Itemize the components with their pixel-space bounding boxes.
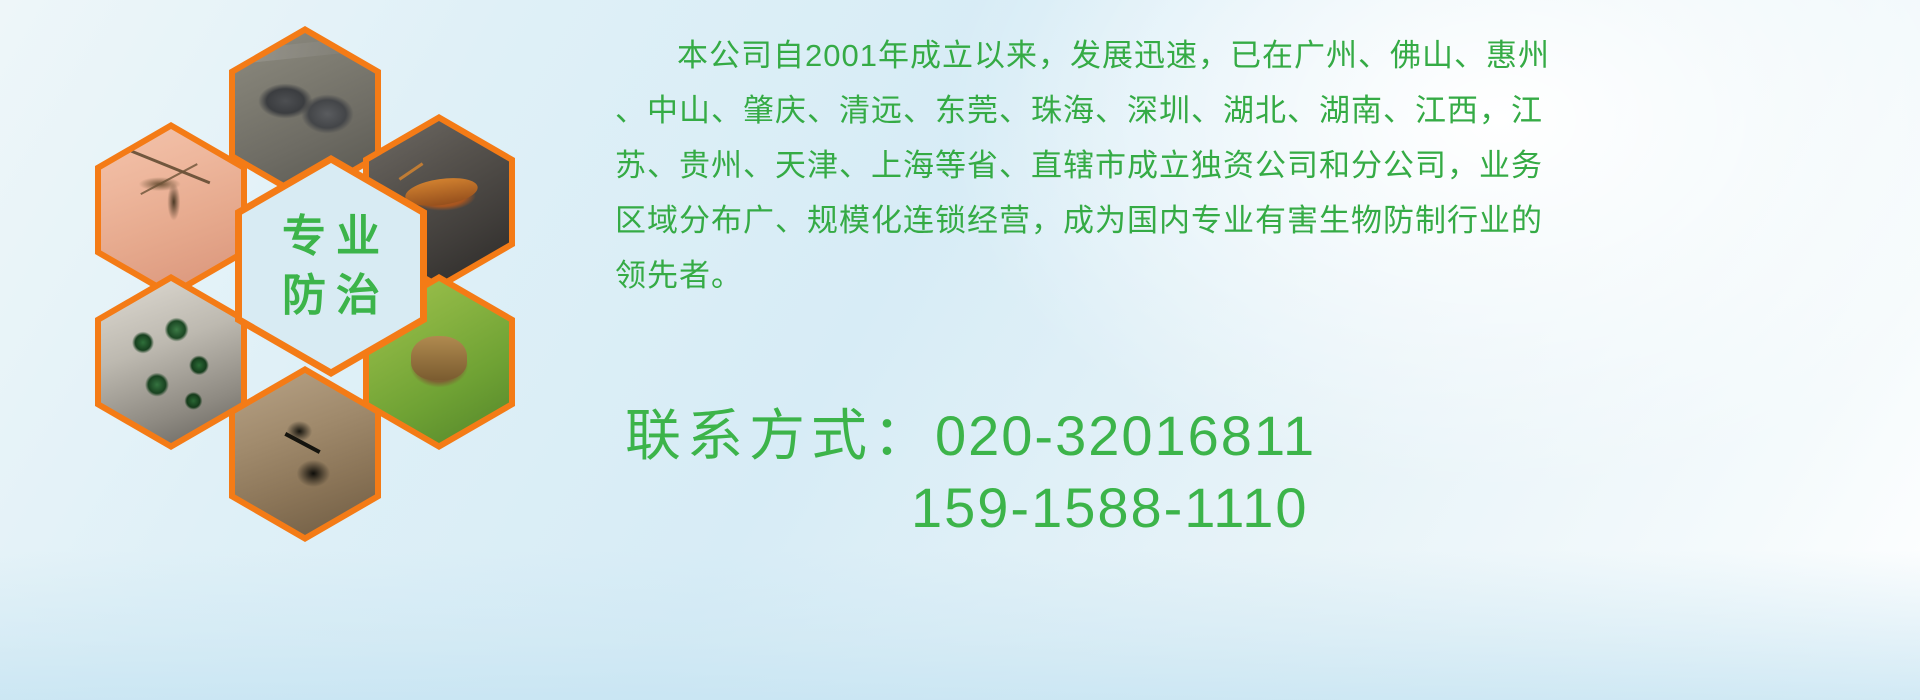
- ant-photo: [229, 366, 381, 542]
- paragraph-line-5: 领先者。: [615, 248, 1895, 303]
- paragraph-line-2: 、中山、肇庆、清远、东莞、珠海、深圳、湖北、湖南、江西，江: [615, 83, 1895, 138]
- contact-label: 联系方式：: [625, 404, 935, 467]
- contact-primary-line: 联系方式：020-32016811: [625, 400, 1875, 472]
- paragraph-line-1-text: 本公司自2001年成立以来，发展迅速，已在广州、佛山、惠州: [677, 38, 1550, 73]
- contact-phone-2[interactable]: 159-1588-1110: [625, 472, 1875, 544]
- mosquito-photo: [95, 122, 247, 298]
- logo-text-line2: 防治: [272, 266, 390, 325]
- flies-image: [101, 281, 241, 443]
- paragraph-line-3: 苏、贵州、天津、上海等省、直辖市成立独资公司和分公司，业务: [615, 138, 1895, 193]
- contact-block: 联系方式：020-32016811 159-1588-1110: [625, 400, 1875, 544]
- contact-phone-1[interactable]: 020-32016811: [935, 404, 1316, 467]
- promo-banner: 专业 防治 本公司自2001年成立以来，发展迅速，已在广州、佛山、惠州 、中山、…: [0, 0, 1920, 700]
- logo-text-line1: 专业: [272, 207, 390, 266]
- paragraph-line-1: 本公司自2001年成立以来，发展迅速，已在广州、佛山、惠州: [615, 28, 1895, 83]
- honeycomb-collage: 专业 防治: [95, 10, 595, 580]
- flies-photo: [95, 274, 247, 450]
- about-paragraph: 本公司自2001年成立以来，发展迅速，已在广州、佛山、惠州 、中山、肇庆、清远、…: [615, 28, 1895, 303]
- ant-image: [235, 373, 375, 535]
- mosquito-image: [101, 129, 241, 291]
- paragraph-line-4: 区域分布广、规模化连锁经营，成为国内专业有害生物防制行业的: [615, 193, 1895, 248]
